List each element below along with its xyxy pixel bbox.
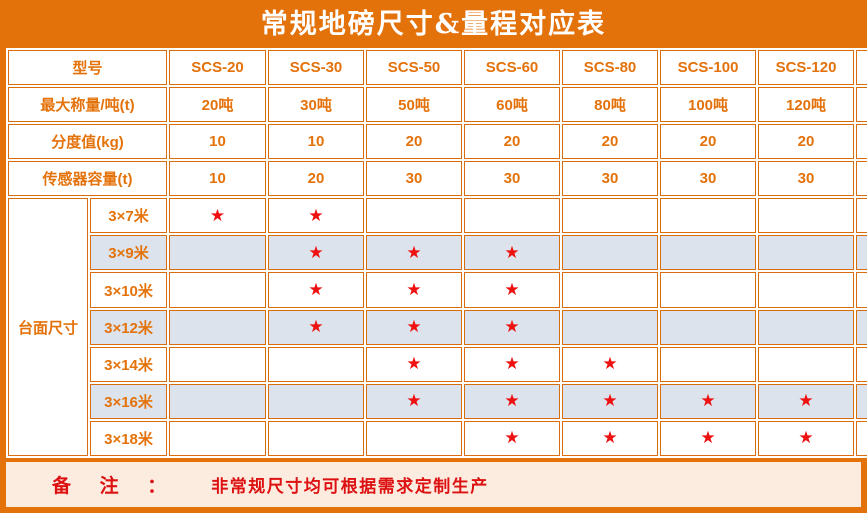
note-band: 备 注 ： 非常规尺寸均可根据需求定制生产: [6, 462, 861, 507]
platform-empty-r3-c5: [562, 272, 658, 307]
platform-empty-r2-c8: [856, 235, 867, 270]
platform-mark-r6-c3: ★: [366, 384, 462, 419]
param-value-r3-c1: 10: [169, 161, 266, 196]
table-row: 3×14米★★★: [8, 347, 867, 382]
platform-empty-r3-c1: [169, 272, 266, 307]
platform-empty-r1-c8: [856, 198, 867, 233]
platform-empty-r4-c1: [169, 310, 266, 345]
platform-size-label-1: 3×7米: [90, 198, 167, 233]
star-icon: ★: [406, 281, 421, 298]
column-header-model-3: SCS-50: [366, 50, 462, 85]
platform-empty-r4-c8: [856, 310, 867, 345]
param-value-r2-c3: 20: [366, 124, 462, 159]
star-icon: ★: [504, 244, 519, 261]
table-row: 台面尺寸3×7米★★: [8, 198, 867, 233]
platform-empty-r1-c6: [660, 198, 756, 233]
column-header-model-8: SCS-150: [856, 50, 867, 85]
platform-mark-r7-c4: ★: [464, 421, 560, 456]
platform-size-label-7: 3×18米: [90, 421, 167, 456]
platform-size-label-6: 3×16米: [90, 384, 167, 419]
param-value-r1-c7: 120吨: [758, 87, 854, 122]
platform-mark-r7-c8: ★: [856, 421, 867, 456]
platform-mark-r3-c4: ★: [464, 272, 560, 307]
table-row: 3×16米★★★★★★: [8, 384, 867, 419]
param-value-r1-c4: 60吨: [464, 87, 560, 122]
platform-mark-r3-c3: ★: [366, 272, 462, 307]
star-icon: ★: [602, 392, 617, 409]
table-row: 3×9米★★★: [8, 235, 867, 270]
param-value-r1-c5: 80吨: [562, 87, 658, 122]
star-icon: ★: [798, 429, 813, 446]
platform-empty-r3-c7: [758, 272, 854, 307]
platform-mark-r1-c1: ★: [169, 198, 266, 233]
platform-mark-r2-c2: ★: [268, 235, 364, 270]
platform-mark-r2-c4: ★: [464, 235, 560, 270]
star-icon: ★: [504, 318, 519, 335]
platform-empty-r5-c6: [660, 347, 756, 382]
table-row: 3×18米★★★★★: [8, 421, 867, 456]
page-title: 常规地磅尺寸&量程对应表: [261, 11, 606, 38]
star-icon: ★: [504, 355, 519, 372]
platform-mark-r5-c5: ★: [562, 347, 658, 382]
param-value-r1-c2: 30吨: [268, 87, 364, 122]
spec-table-body: 型号SCS-20SCS-30SCS-50SCS-60SCS-80SCS-100S…: [8, 50, 867, 456]
title-band: 常规地磅尺寸&量程对应表: [0, 0, 867, 48]
param-value-r3-c2: 20: [268, 161, 364, 196]
platform-empty-r4-c7: [758, 310, 854, 345]
table-header-row: 型号SCS-20SCS-30SCS-50SCS-60SCS-80SCS-100S…: [8, 50, 867, 85]
platform-group-label: 台面尺寸: [8, 198, 88, 456]
star-icon: ★: [602, 429, 617, 446]
platform-mark-r7-c7: ★: [758, 421, 854, 456]
platform-mark-r5-c4: ★: [464, 347, 560, 382]
table-row: 分度值(kg)1010202020202020: [8, 124, 867, 159]
platform-mark-r1-c2: ★: [268, 198, 364, 233]
star-icon: ★: [406, 355, 421, 372]
param-value-r2-c6: 20: [660, 124, 756, 159]
platform-size-label-4: 3×12米: [90, 310, 167, 345]
star-icon: ★: [602, 355, 617, 372]
note-label: 备 注 ：: [52, 471, 177, 498]
column-header-model-5: SCS-80: [562, 50, 658, 85]
param-value-r3-c7: 30: [758, 161, 854, 196]
param-value-r3-c5: 30: [562, 161, 658, 196]
platform-size-label-3: 3×10米: [90, 272, 167, 307]
platform-empty-r5-c7: [758, 347, 854, 382]
param-value-r1-c8: 150吨: [856, 87, 867, 122]
param-value-r3-c6: 30: [660, 161, 756, 196]
param-value-r2-c7: 20: [758, 124, 854, 159]
column-header-model-7: SCS-120: [758, 50, 854, 85]
platform-empty-r4-c6: [660, 310, 756, 345]
param-value-r1-c6: 100吨: [660, 87, 756, 122]
platform-empty-r1-c3: [366, 198, 462, 233]
star-icon: ★: [700, 429, 715, 446]
spec-table: 型号SCS-20SCS-30SCS-50SCS-60SCS-80SCS-100S…: [6, 48, 867, 458]
param-value-r3-c8: 30: [856, 161, 867, 196]
column-header-model-6: SCS-100: [660, 50, 756, 85]
param-value-r3-c4: 30: [464, 161, 560, 196]
table-row: 3×10米★★★: [8, 272, 867, 307]
column-header-model-1: SCS-20: [169, 50, 266, 85]
star-icon: ★: [308, 207, 323, 224]
platform-empty-r2-c7: [758, 235, 854, 270]
param-value-r2-c4: 20: [464, 124, 560, 159]
platform-empty-r2-c1: [169, 235, 266, 270]
param-value-r2-c8: 20: [856, 124, 867, 159]
platform-empty-r5-c1: [169, 347, 266, 382]
platform-mark-r6-c6: ★: [660, 384, 756, 419]
platform-size-label-2: 3×9米: [90, 235, 167, 270]
param-value-r3-c3: 30: [366, 161, 462, 196]
table-row: 传感器容量(t)1020303030303030: [8, 161, 867, 196]
platform-empty-r6-c1: [169, 384, 266, 419]
platform-empty-r2-c6: [660, 235, 756, 270]
param-label-2: 分度值(kg): [8, 124, 167, 159]
star-icon: ★: [406, 244, 421, 261]
star-icon: ★: [308, 281, 323, 298]
platform-empty-r5-c2: [268, 347, 364, 382]
star-icon: ★: [406, 318, 421, 335]
platform-empty-r1-c7: [758, 198, 854, 233]
star-icon: ★: [504, 392, 519, 409]
star-icon: ★: [504, 281, 519, 298]
param-value-r1-c3: 50吨: [366, 87, 462, 122]
star-icon: ★: [406, 392, 421, 409]
param-label-3: 传感器容量(t): [8, 161, 167, 196]
platform-empty-r7-c3: [366, 421, 462, 456]
param-value-r2-c1: 10: [169, 124, 266, 159]
platform-empty-r7-c1: [169, 421, 266, 456]
spec-table-poster: 常规地磅尺寸&量程对应表 型号SCS-20SCS-30SCS-50SCS-60S…: [0, 0, 867, 513]
param-value-r1-c1: 20吨: [169, 87, 266, 122]
platform-mark-r4-c4: ★: [464, 310, 560, 345]
platform-empty-r3-c8: [856, 272, 867, 307]
platform-empty-r1-c4: [464, 198, 560, 233]
star-icon: ★: [798, 392, 813, 409]
param-label-1: 最大称量/吨(t): [8, 87, 167, 122]
platform-empty-r1-c5: [562, 198, 658, 233]
note-text: 非常规尺寸均可根据需求定制生产: [211, 472, 489, 497]
platform-mark-r7-c5: ★: [562, 421, 658, 456]
platform-mark-r6-c4: ★: [464, 384, 560, 419]
spec-table-container: 型号SCS-20SCS-30SCS-50SCS-60SCS-80SCS-100S…: [6, 48, 861, 458]
platform-empty-r6-c2: [268, 384, 364, 419]
platform-mark-r5-c3: ★: [366, 347, 462, 382]
platform-mark-r4-c2: ★: [268, 310, 364, 345]
platform-mark-r6-c5: ★: [562, 384, 658, 419]
star-icon: ★: [308, 318, 323, 335]
platform-mark-r6-c7: ★: [758, 384, 854, 419]
platform-empty-r2-c5: [562, 235, 658, 270]
star-icon: ★: [210, 207, 225, 224]
platform-mark-r3-c2: ★: [268, 272, 364, 307]
platform-mark-r2-c3: ★: [366, 235, 462, 270]
platform-mark-r4-c3: ★: [366, 310, 462, 345]
star-icon: ★: [700, 392, 715, 409]
column-header-model-2: SCS-30: [268, 50, 364, 85]
column-header-model-4: SCS-60: [464, 50, 560, 85]
platform-empty-r4-c5: [562, 310, 658, 345]
table-row: 3×12米★★★: [8, 310, 867, 345]
platform-mark-r7-c6: ★: [660, 421, 756, 456]
platform-mark-r6-c8: ★: [856, 384, 867, 419]
table-row: 最大称量/吨(t)20吨30吨50吨60吨80吨100吨120吨150吨: [8, 87, 867, 122]
star-icon: ★: [504, 429, 519, 446]
platform-empty-r7-c2: [268, 421, 364, 456]
platform-empty-r3-c6: [660, 272, 756, 307]
param-value-r2-c2: 10: [268, 124, 364, 159]
platform-size-label-5: 3×14米: [90, 347, 167, 382]
header-corner-label: 型号: [8, 50, 167, 85]
param-value-r2-c5: 20: [562, 124, 658, 159]
platform-empty-r5-c8: [856, 347, 867, 382]
star-icon: ★: [308, 244, 323, 261]
